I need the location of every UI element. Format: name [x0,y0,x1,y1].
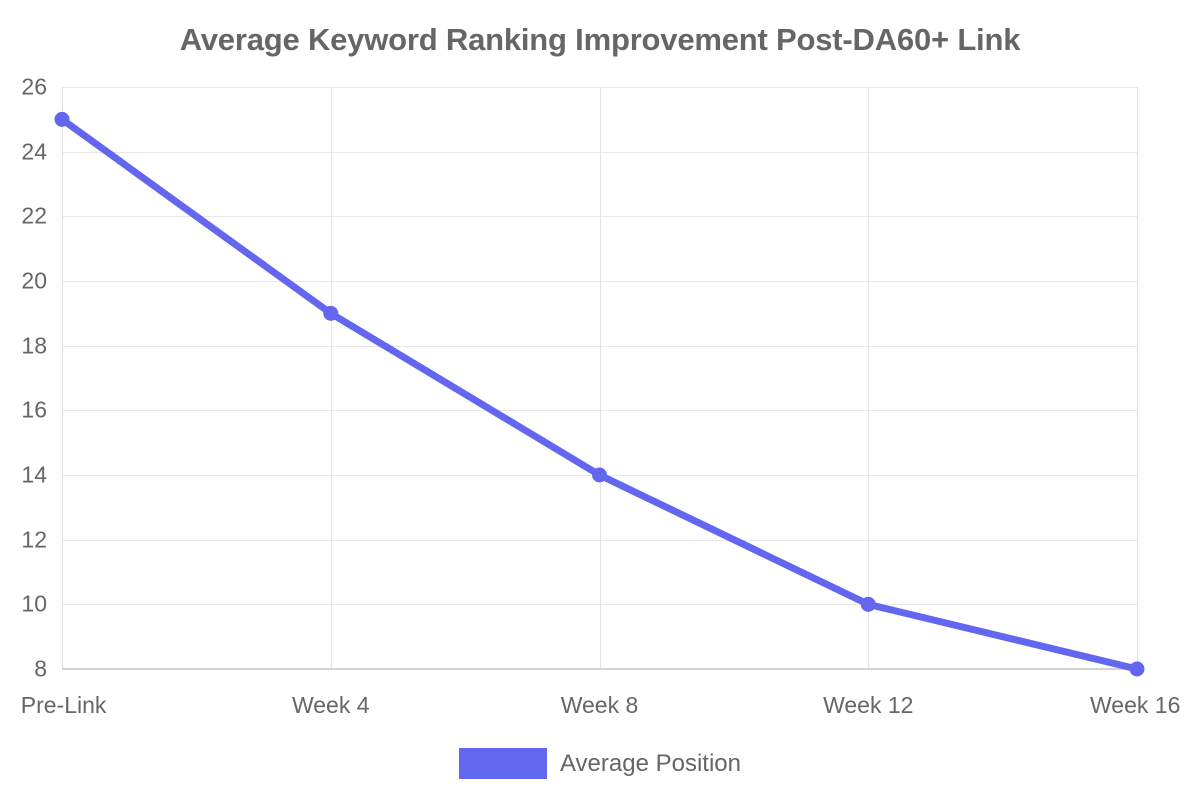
y-axis-tick-label: 18 [0,332,47,359]
plot-area [62,87,1137,669]
chart-legend: Average Position [0,748,1200,779]
legend-swatch-average-position[interactable] [459,748,547,779]
y-axis-tick-label: 10 [0,591,47,618]
chart-container: Average Keyword Ranking Improvement Post… [0,0,1200,800]
x-axis-tick-label: Week 16 [1090,692,1180,719]
legend-label-average-position: Average Position [560,750,741,778]
y-axis-tick-label: 26 [0,74,47,101]
x-axis-tick-label: Week 12 [823,692,913,719]
data-point-marker[interactable] [323,306,338,321]
y-axis-tick-label: 8 [0,656,47,683]
series-average-position [52,77,1147,679]
y-axis-tick-label: 24 [0,138,47,165]
y-axis-tick-label: 16 [0,397,47,424]
x-axis-tick-label: Week 4 [292,692,370,719]
data-point-marker[interactable] [861,597,876,612]
x-axis-tick-label: Week 8 [561,692,639,719]
y-axis-tick-label: 20 [0,268,47,295]
data-point-marker[interactable] [1130,662,1145,677]
y-axis-tick-label: 22 [0,203,47,230]
y-axis-tick-label: 12 [0,526,47,553]
series-line [62,119,1137,669]
data-point-marker[interactable] [592,468,607,483]
chart-title: Average Keyword Ranking Improvement Post… [0,22,1200,58]
y-axis-tick-label: 14 [0,462,47,489]
x-axis-tick-label: Pre-Link [21,692,107,719]
data-point-marker[interactable] [55,112,70,127]
